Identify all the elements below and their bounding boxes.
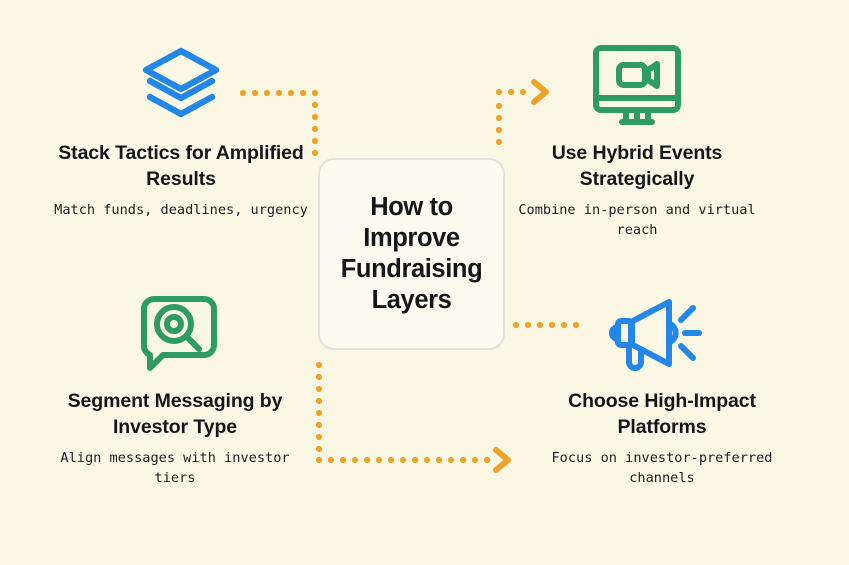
- node-title: Segment Messaging by Investor Type: [45, 389, 305, 441]
- layers-icon: [138, 40, 224, 132]
- node-caption: Match funds, deadlines, urgency: [54, 201, 308, 221]
- node-high-impact-platforms: Choose High-Impact Platforms Focus on in…: [512, 288, 812, 488]
- node-caption: Focus on investor-preferred channels: [527, 449, 797, 488]
- node-caption: Combine in-person and virtual reach: [502, 201, 772, 240]
- monitor-video-icon: [589, 40, 685, 132]
- center-card: How to Improve Fundraising Layers: [318, 158, 505, 350]
- node-stack-tactics: Stack Tactics for Amplified Results Matc…: [31, 40, 331, 221]
- megaphone-icon: [607, 288, 717, 380]
- connector-segment-messaging-to-platforms: [316, 362, 490, 463]
- node-title: Stack Tactics for Amplified Results: [51, 141, 311, 193]
- center-card-title: How to Improve Fundraising Layers: [326, 192, 497, 315]
- arrowhead-high-impact-platforms: [496, 450, 508, 470]
- speech-bubble-search-icon: [132, 288, 218, 380]
- infographic-canvas: Stack Tactics for Amplified Results Matc…: [0, 0, 849, 565]
- node-segment-messaging: Segment Messaging by Investor Type Align…: [25, 288, 325, 488]
- node-title: Use Hybrid Events Strategically: [507, 141, 767, 193]
- node-hybrid-events: Use Hybrid Events Strategically Combine …: [487, 40, 787, 240]
- node-caption: Align messages with investor tiers: [40, 449, 310, 488]
- node-title: Choose High-Impact Platforms: [532, 389, 792, 441]
